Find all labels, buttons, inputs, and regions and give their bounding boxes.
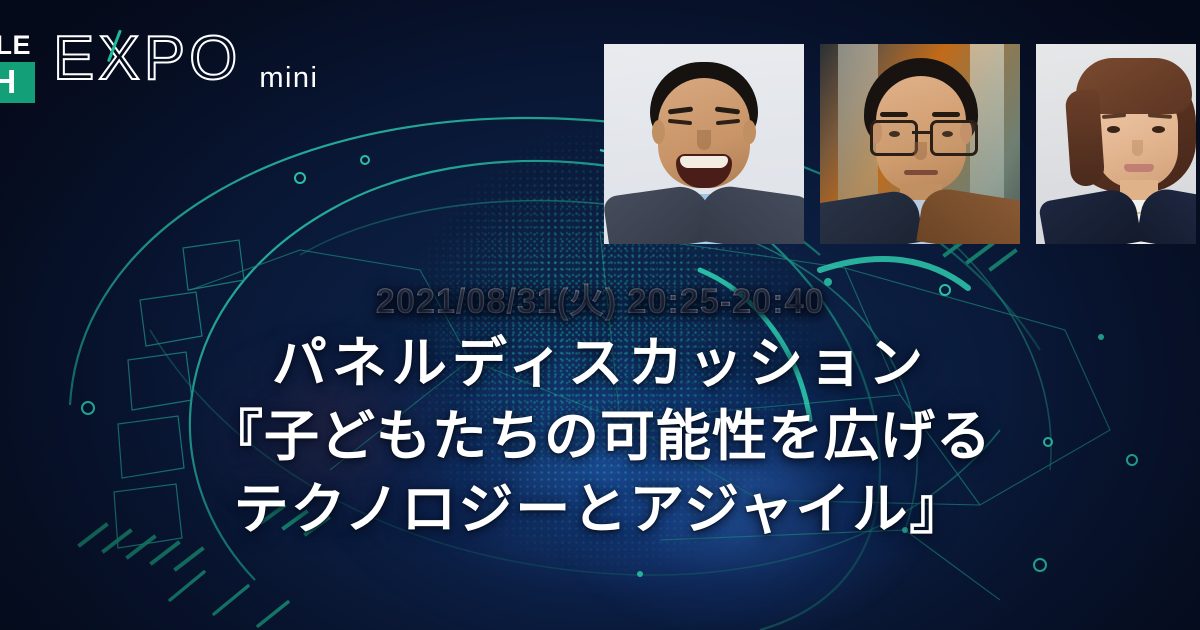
session-datetime: 2021/08/31(火) 20:25-20:40	[0, 282, 1200, 321]
session-title-line-1: パネルディスカッション	[0, 327, 1200, 400]
logo-tech-text: CH	[0, 62, 35, 103]
session-title: パネルディスカッション 『子どもたちの可能性を広げる テクノロジーとアジャイル』	[0, 327, 1200, 546]
speaker-2-lens-right	[930, 120, 978, 156]
session-title-line-3: テクノロジーとアジャイル』	[0, 473, 1200, 546]
logo-mark: GILE CH	[0, 26, 35, 103]
speaker-1-ear-left	[652, 120, 665, 144]
speaker-1-nose	[697, 130, 711, 150]
speaker-2-lens-left	[870, 120, 918, 156]
speaker-2-mouth	[904, 170, 938, 175]
speaker-3-mouth	[1124, 164, 1154, 172]
speaker-2-jacket-right	[916, 186, 1020, 244]
event-banner: GILE CH EXPO mini	[0, 0, 1200, 630]
logo-agile-text: GILE	[0, 32, 35, 59]
speaker-photo-3[interactable]	[1036, 44, 1196, 244]
speaker-2-jacket-left	[820, 188, 924, 244]
event-logo[interactable]: GILE CH EXPO mini	[0, 26, 318, 103]
speaker-photo-1[interactable]	[604, 44, 804, 244]
speaker-1-teeth	[680, 156, 728, 168]
speaker-2-nose	[914, 142, 927, 160]
speaker-3-eye-right	[1152, 126, 1165, 133]
logo-expo-text: EXPO	[53, 26, 241, 90]
speaker-2-brow-left	[880, 112, 908, 117]
speaker-photo-2[interactable]	[820, 44, 1020, 244]
logo-mini-text: mini	[259, 62, 318, 103]
speaker-3-nose	[1132, 140, 1143, 156]
session-copy-block: 2021/08/31(火) 20:25-20:40 パネルディスカッション 『子…	[0, 282, 1200, 547]
speaker-3-blazer-left	[1038, 186, 1142, 244]
speaker-3-eye-left	[1107, 126, 1120, 133]
speaker-photo-strip	[604, 44, 1196, 244]
speaker-2-glasses-bridge	[912, 131, 930, 134]
speaker-2-brow-right	[932, 112, 960, 117]
logo-slash-accent-icon	[107, 29, 122, 62]
speaker-3-hair-side	[1065, 89, 1106, 187]
speaker-1-jacket-right	[696, 183, 804, 244]
session-title-line-2: 『子どもたちの可能性を広げる	[0, 400, 1200, 473]
speaker-1-ear-right	[743, 120, 756, 144]
